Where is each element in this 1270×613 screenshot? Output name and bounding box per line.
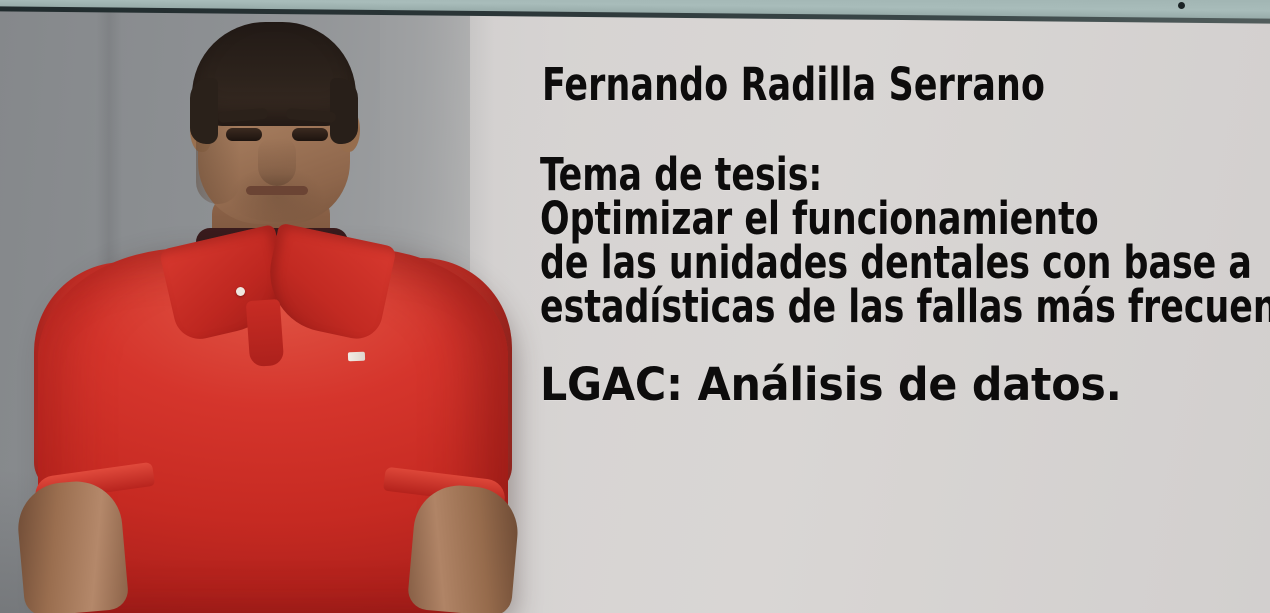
eye-left — [226, 128, 262, 141]
eye-right — [292, 128, 328, 141]
hair-side-left — [190, 78, 218, 144]
portrait-slide: Fernando Radilla Serrano Tema de tesis: … — [0, 0, 1270, 613]
thesis-label-line: Tema de tesis: — [540, 152, 822, 197]
mouth — [246, 186, 308, 195]
thesis-line-3: estadísticas de las fallas más frecuente… — [540, 284, 1270, 329]
thesis-line-1: Optimizar el funcionamiento — [540, 196, 1099, 241]
shirt-placket — [246, 299, 285, 367]
thesis-line-2: de las unidades dentales con base a — [540, 240, 1252, 285]
arm-right — [407, 482, 522, 613]
lgac-line: LGAC: Análisis de datos. — [540, 362, 1122, 407]
arm-left — [14, 478, 129, 613]
shirt-button — [236, 287, 245, 296]
chest-logo-patch — [348, 352, 365, 362]
hair-side-right — [330, 78, 358, 144]
subject-name-line: Fernando Radilla Serrano — [542, 62, 1045, 107]
subject-figure — [0, 0, 560, 613]
caption-text-block: Fernando Radilla Serrano Tema de tesis: … — [538, 0, 1258, 613]
